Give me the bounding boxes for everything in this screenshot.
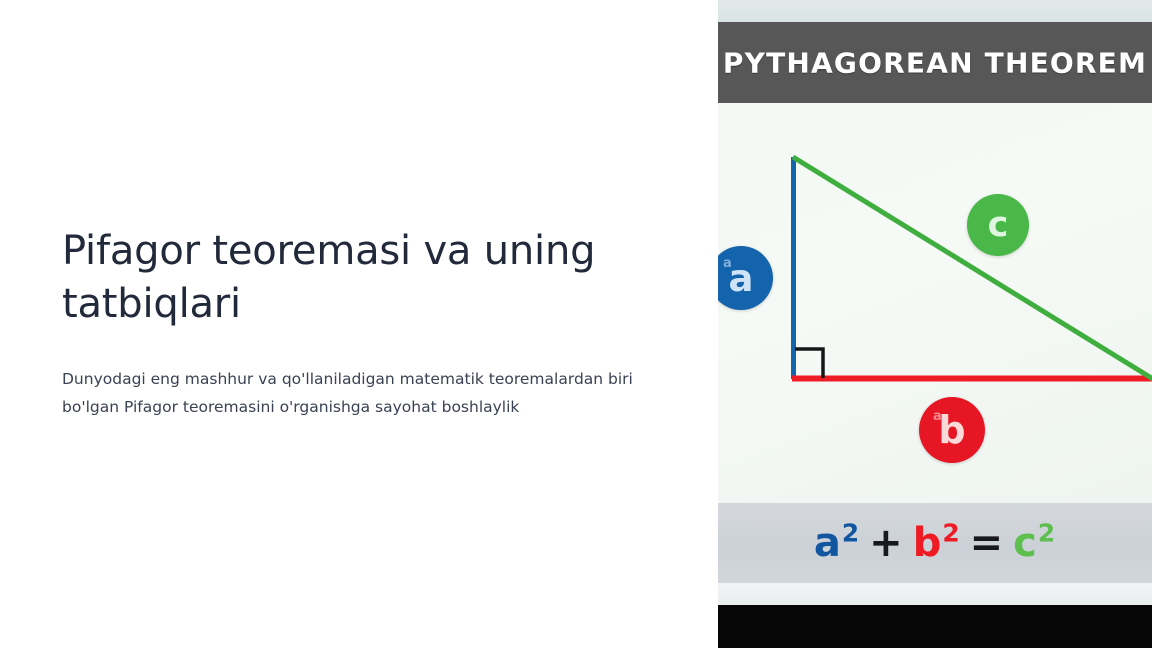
illustration-footer-bar — [718, 605, 1152, 648]
formula-term-c: c2 — [1013, 520, 1056, 566]
right-angle-marker — [795, 349, 823, 378]
label-bubble-b: a b — [919, 397, 985, 463]
formula-b-base: b — [913, 520, 943, 566]
label-bubble-a-superscript: a — [723, 256, 732, 271]
illustration-header-title: PYTHAGOREAN THEOREM — [718, 46, 1152, 79]
slide-subtitle: Dunyodagi eng mashhur va qo'llaniladigan… — [62, 365, 647, 421]
formula-b-exponent: 2 — [942, 519, 960, 548]
label-bubble-c-text: c — [988, 205, 1009, 245]
formula-a-base: a — [814, 520, 842, 566]
hypotenuse-c-line — [793, 157, 1152, 379]
formula-term-a: a2 — [814, 520, 860, 566]
slide-text-column: Pifagor teoremasi va uning tatbiqlari Du… — [62, 225, 662, 421]
label-bubble-c: c — [967, 194, 1029, 256]
panel-lower-strip — [718, 583, 1152, 605]
formula-a-exponent: 2 — [842, 519, 860, 548]
panel-top-strip — [718, 0, 1152, 22]
label-bubble-b-superscript: a — [933, 409, 942, 424]
illustration-panel: PYTHAGOREAN THEOREM a a c — [718, 0, 1152, 648]
label-bubble-a-text: a — [729, 257, 754, 300]
pythagorean-formula: a2+b2=c2 — [718, 520, 1152, 566]
formula-term-b: b2 — [913, 520, 961, 566]
formula-plus-operator: + — [860, 520, 913, 566]
formula-bar: a2+b2=c2 — [718, 503, 1152, 583]
slide-canvas: Pifagor teoremasi va uning tatbiqlari Du… — [0, 0, 1152, 648]
triangle-diagram: a a c a b — [718, 103, 1152, 503]
illustration-header-bar: PYTHAGOREAN THEOREM — [718, 22, 1152, 103]
page-title: Pifagor teoremasi va uning tatbiqlari — [62, 225, 642, 331]
formula-equals-operator: = — [961, 520, 1014, 566]
formula-c-base: c — [1013, 520, 1038, 566]
formula-c-exponent: 2 — [1038, 519, 1056, 548]
label-bubble-b-text: b — [938, 408, 965, 452]
